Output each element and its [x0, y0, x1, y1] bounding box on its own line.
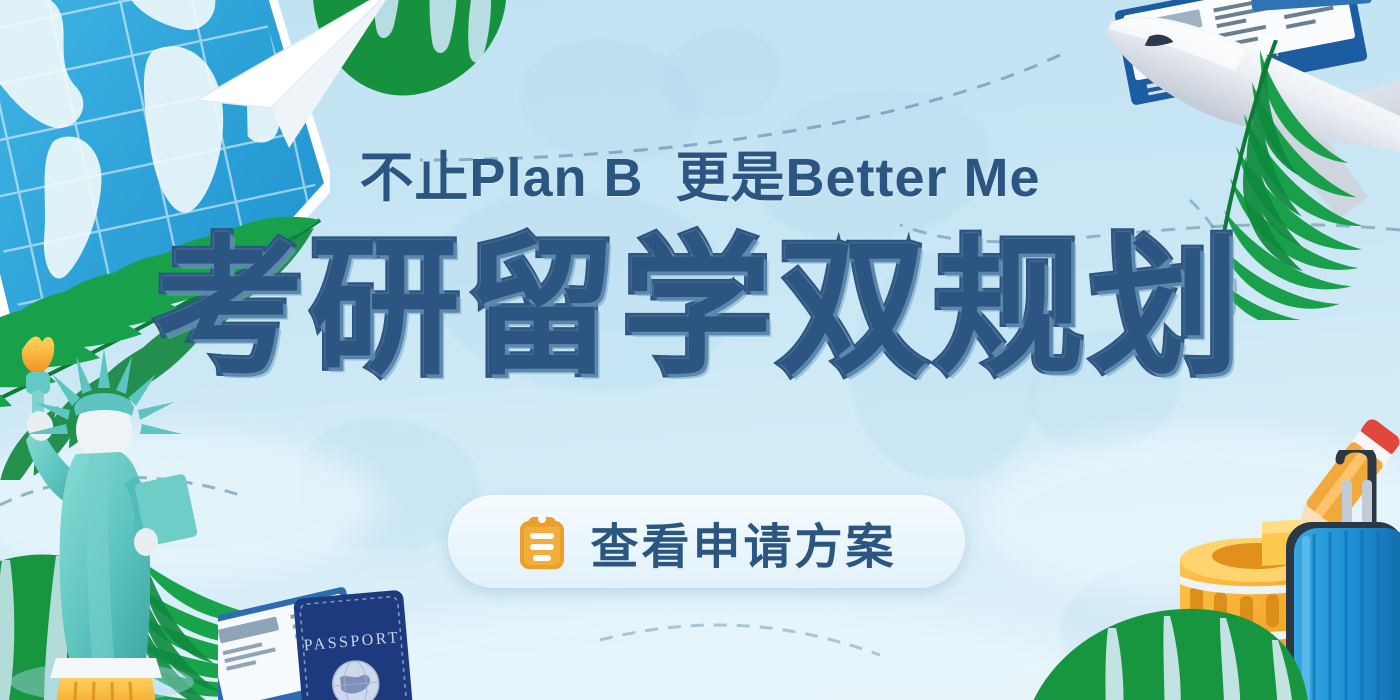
cloud-shape: [300, 600, 1100, 700]
cloud-shape: [980, 430, 1400, 600]
cta-label: 查看申请方案: [590, 507, 896, 577]
cloud-shape: [0, 430, 380, 580]
clipboard-icon: [516, 513, 568, 571]
promo-banner: PASSPORT: [0, 0, 1400, 700]
banner-subtitle: 不止Plan B 更是Better Me: [0, 133, 1400, 212]
boarding-pass-ticket-icon: [1100, 0, 1380, 116]
banner-headline: 考研留学双规划: [0, 230, 1400, 388]
airplane-icon: [1085, 0, 1400, 250]
view-application-plan-button[interactable]: 查看申请方案: [448, 495, 965, 588]
monstera-leaf-icon: [300, 0, 530, 115]
paper-plane-icon: [185, 0, 415, 152]
